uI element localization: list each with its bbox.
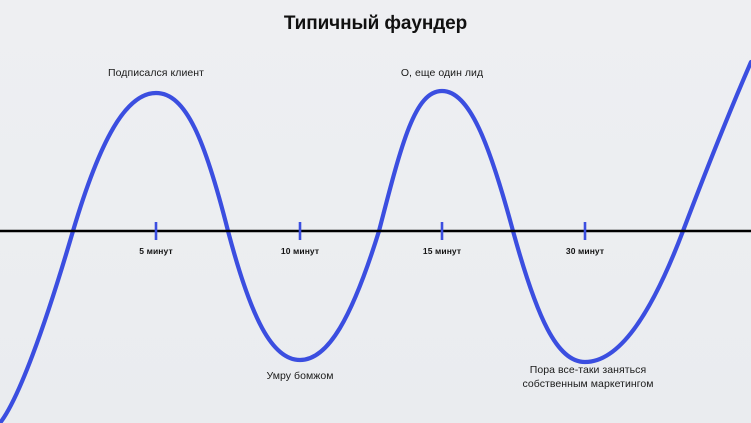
axis-tick-label-5: 5 минут [139,246,172,256]
axis-tick-label-10: 10 минут [281,246,319,256]
axis-tick-label-30: 30 минут [566,246,604,256]
annotation-peak-2: О, еще один лид [352,67,532,81]
annotation-trough-1: Умру бомжом [220,370,380,384]
annotation-trough-2: Пора все-таки заняться собственным марке… [478,364,698,392]
chart-canvas: Типичный фаундер 5 минут 10 минут 15 мин… [0,0,751,423]
axis-tick-label-15: 15 минут [423,246,461,256]
annotation-peak-1: Подписался клиент [56,67,256,81]
wave-plot [0,0,751,423]
